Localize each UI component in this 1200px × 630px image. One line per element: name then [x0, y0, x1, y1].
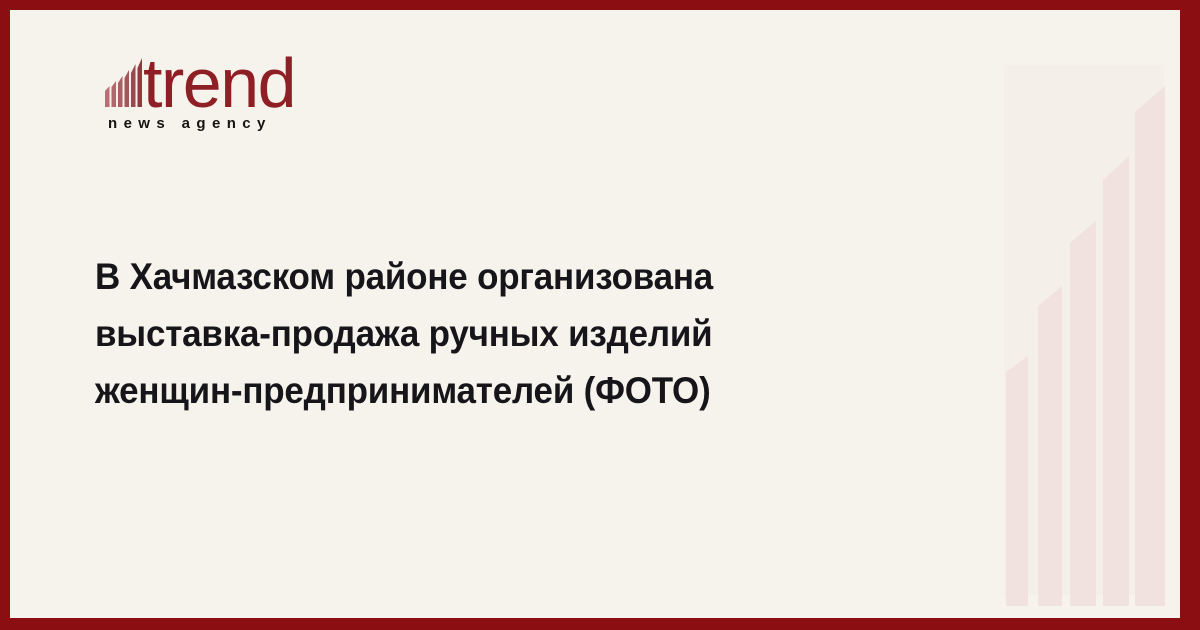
page-title: В Хачмазском районе организована выставк… — [95, 248, 895, 419]
headline-line-2: выставка-продажа ручных изделий — [95, 305, 851, 362]
logo-wordmark-group: trend — [95, 45, 395, 115]
ascending-bars-watermark — [990, 10, 1180, 630]
watermark-bar — [1103, 156, 1129, 606]
brand-logo[interactable]: trend news agency — [95, 45, 415, 150]
watermark-bar — [1006, 356, 1028, 606]
trend-wordmark-text: trend — [143, 45, 295, 117]
watermark-bar — [1135, 86, 1165, 606]
watermark-bar — [1070, 221, 1096, 606]
social-share-card: trend news agency В Хачмазском районе ор… — [0, 0, 1200, 630]
watermark-panel — [1004, 65, 1164, 595]
ascending-bars-icon — [105, 58, 142, 107]
watermark-bar — [1038, 286, 1062, 606]
headline-line-3: женщин-предпринимателей (ФОТО) — [95, 362, 851, 419]
trend-wordmark-svg: trend — [95, 45, 395, 117]
headline-line-1: В Хачмазском районе организована — [95, 248, 851, 305]
brand-tagline: news agency — [108, 115, 272, 132]
